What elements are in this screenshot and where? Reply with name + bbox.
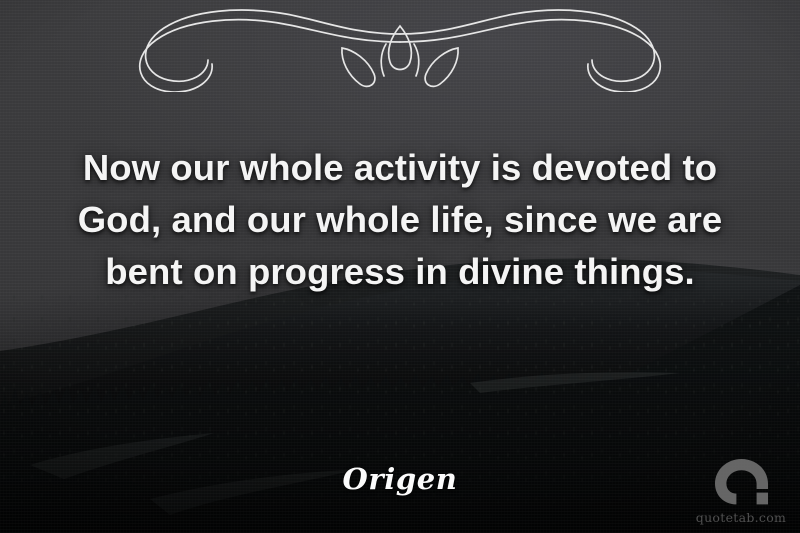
watermark-label: quotetab.com <box>696 510 786 525</box>
quote-author: Origen <box>0 462 800 496</box>
quote-content: Now our whole activity is devoted to God… <box>0 0 800 533</box>
quote-text: Now our whole activity is devoted to God… <box>38 142 762 298</box>
quote-image-card: Now our whole activity is devoted to God… <box>0 0 800 533</box>
quotetab-logo-icon <box>712 459 770 509</box>
flourish-divider-ornament <box>80 4 720 92</box>
watermark[interactable]: quotetab.com <box>694 459 788 525</box>
